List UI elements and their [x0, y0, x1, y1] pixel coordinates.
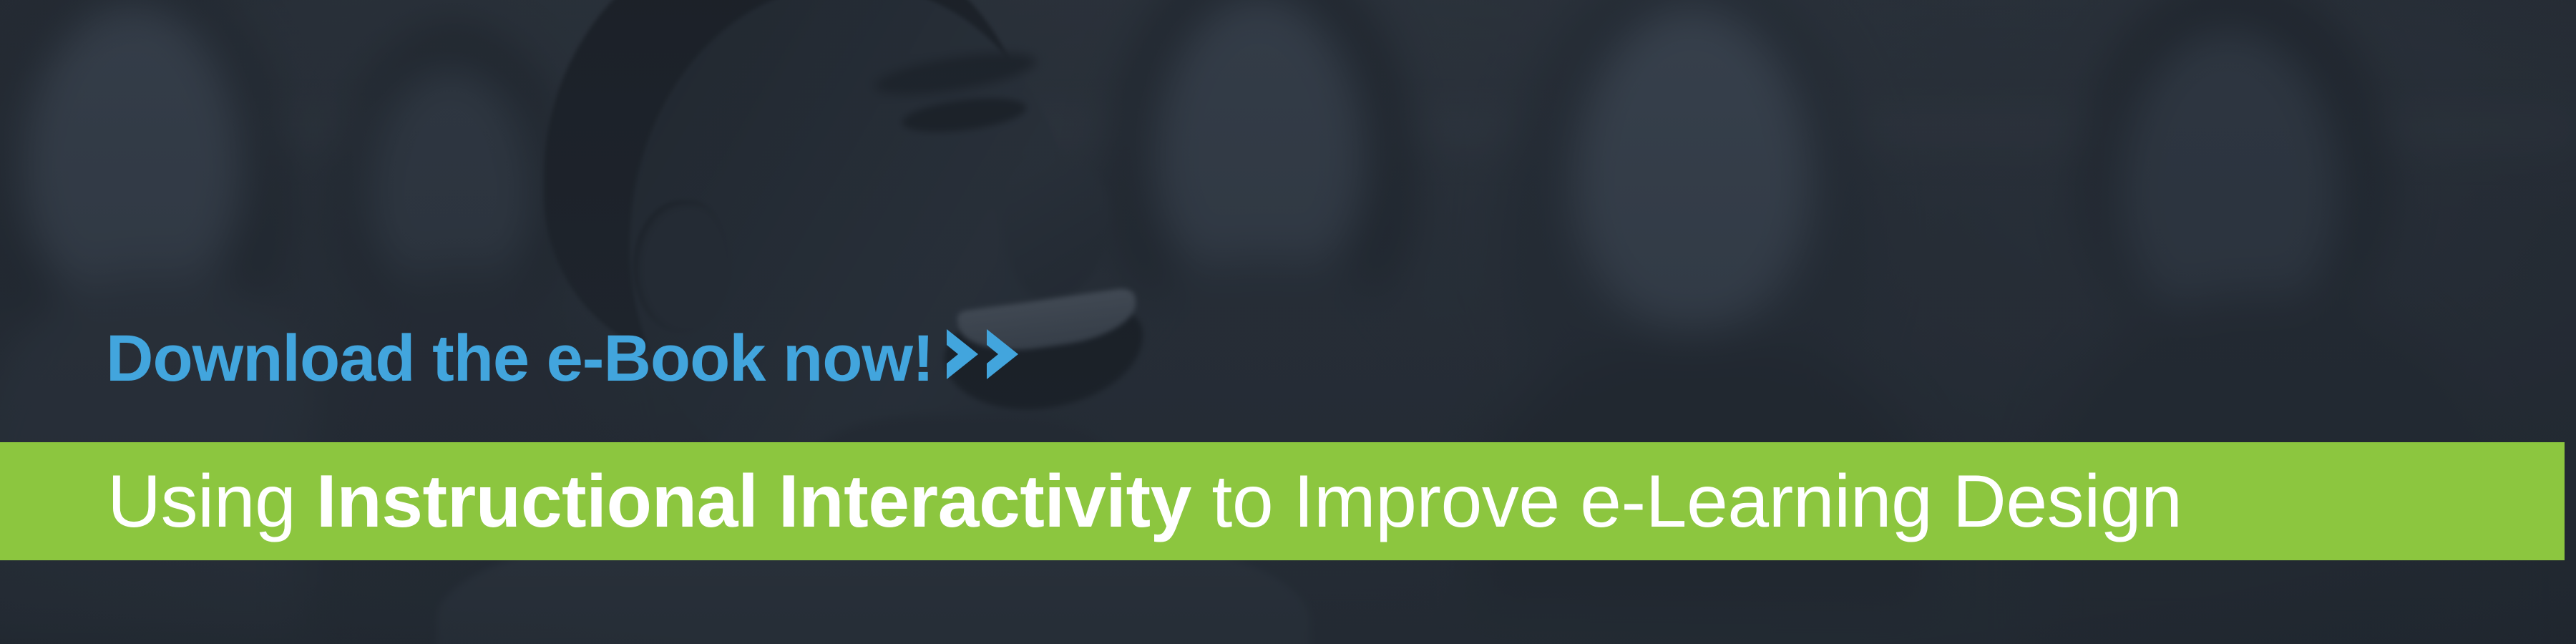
cta-label: Download the e-Book now! [106, 322, 934, 395]
headline-text: Using Instructional Interactivity to Imp… [107, 464, 2182, 539]
headline-trail: to Improve e-Learning Design [1191, 460, 2182, 543]
headline-lead: Using [107, 460, 316, 543]
download-ebook-cta[interactable]: Download the e-Book now! [106, 326, 1028, 391]
ebook-promo-banner: Download the e-Book now! Using Instructi… [0, 0, 2576, 644]
double-chevron-right-icon [945, 328, 1028, 381]
headline-green-bar: Using Instructional Interactivity to Imp… [0, 442, 2565, 560]
headline-emphasis: Instructional Interactivity [316, 460, 1191, 543]
